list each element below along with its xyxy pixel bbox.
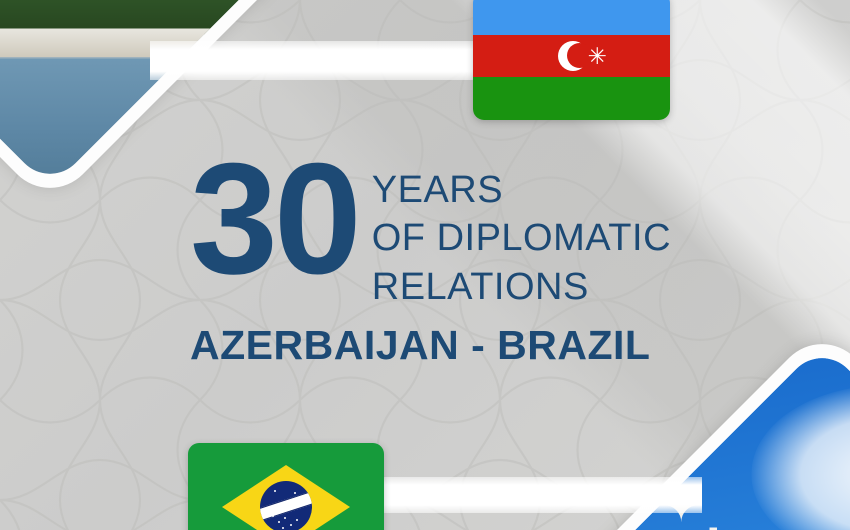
bottom-white-band (372, 477, 702, 513)
eight-pointed-star-icon: ✳ (586, 45, 608, 67)
headline-lines: YEARS OF DIPLOMATIC RELATIONS (372, 150, 671, 311)
headline-line-2: OF DIPLOMATIC (372, 214, 671, 262)
azerbaijan-flag-blue-stripe (473, 0, 670, 35)
brazil-flag-banner (260, 488, 312, 523)
brazil-flag (188, 443, 384, 530)
countries-title: AZERBAIJAN - BRAZIL (190, 322, 650, 369)
top-white-band (150, 41, 490, 80)
anniversary-number: 30 (190, 150, 358, 289)
headline-block: 30 YEARS OF DIPLOMATIC RELATIONS (190, 150, 710, 311)
headline-line-3: RELATIONS (372, 263, 671, 311)
brazil-flag-globe (260, 481, 312, 530)
azerbaijan-flag-green-stripe (473, 77, 670, 120)
crescent-icon (558, 41, 588, 71)
azerbaijan-flag: ✳ (473, 0, 670, 120)
poster-canvas: ✦ ✳ (0, 0, 850, 530)
headline-line-1: YEARS (372, 166, 671, 214)
